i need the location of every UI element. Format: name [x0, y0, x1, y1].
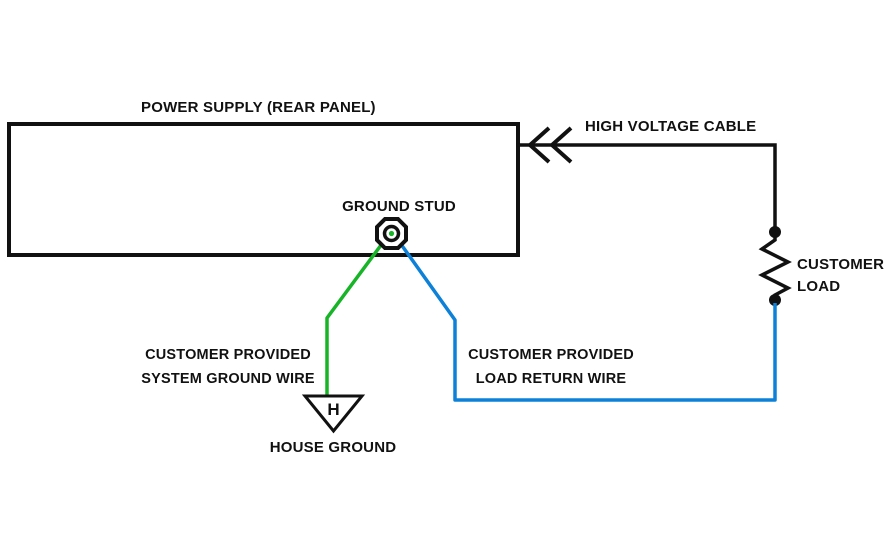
customer-load-label-line1: CUSTOMER: [797, 256, 884, 273]
system-ground-wire-label-line2: SYSTEM GROUND WIRE: [141, 371, 315, 387]
customer-load-resistor: [762, 226, 788, 306]
diagram-canvas: H POWER SUPPLY (REAR PANEL) HIGH VOLTAGE…: [0, 0, 885, 548]
grounding-diagram: H POWER SUPPLY (REAR PANEL) HIGH VOLTAGE…: [0, 0, 885, 548]
ground-stud[interactable]: [377, 219, 406, 248]
ground-stud-label: GROUND STUD: [342, 198, 456, 215]
ground-stud-center: [389, 231, 394, 236]
system-ground-wire: [327, 233, 390, 399]
load-terminal-dot-top: [769, 226, 781, 238]
house-ground-symbol-icon: H: [305, 396, 362, 431]
high-voltage-cable-label: HIGH VOLTAGE CABLE: [585, 118, 756, 135]
system-ground-wire-label-line1: CUSTOMER PROVIDED: [145, 347, 311, 363]
house-ground-label: HOUSE GROUND: [270, 439, 397, 456]
power-supply-rear-panel: [9, 124, 518, 255]
load-return-wire-label-line1: CUSTOMER PROVIDED: [468, 347, 634, 363]
house-ground-letter: H: [327, 400, 339, 419]
load-return-wire-label-line2: LOAD RETURN WIRE: [476, 371, 627, 387]
page-title: POWER SUPPLY (REAR PANEL): [141, 99, 376, 116]
high-voltage-cable-wire: [518, 145, 775, 232]
customer-load-label-line2: LOAD: [797, 278, 840, 295]
